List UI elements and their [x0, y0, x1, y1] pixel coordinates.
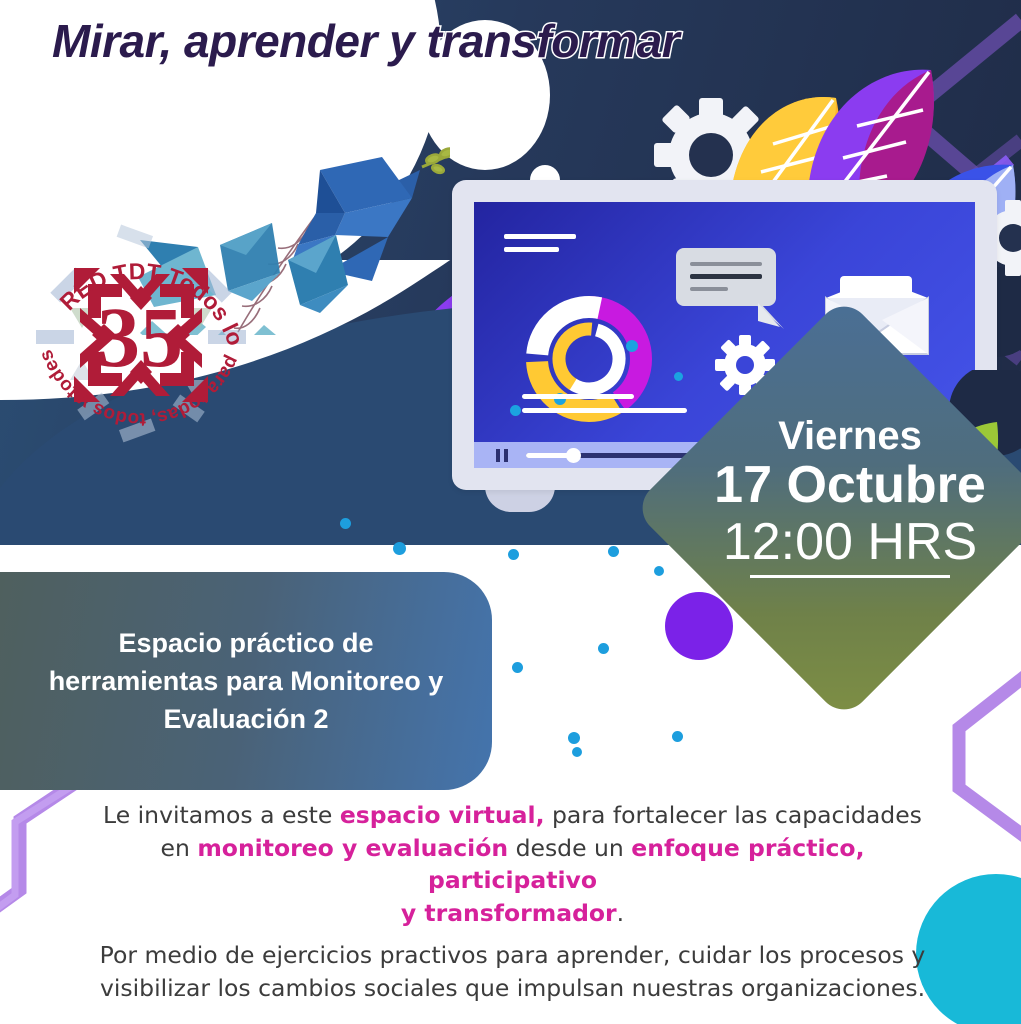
scatter-dot: [340, 518, 351, 529]
headline-text: Espacio práctico de herramientas para Mo…: [31, 624, 462, 739]
body-text: para fortalecer las capacidades: [545, 801, 922, 829]
red-tdt-logo: 35 RED TDT Todos los derechos para todas…: [18, 212, 263, 457]
donut-chart-icon: [524, 294, 654, 424]
body-text: en: [160, 834, 197, 862]
pause-icon[interactable]: [496, 449, 510, 462]
logo-anniversary-number: 35: [97, 289, 183, 385]
headline-line-3: Evaluación 2: [49, 700, 444, 738]
body-highlight: y transformador: [401, 899, 617, 927]
body-line-4: Por medio de ejercicios practivos para a…: [90, 940, 935, 971]
date-day-month: 17 Octubre: [700, 457, 1000, 514]
scatter-dot: [572, 747, 582, 757]
scatter-dot: [598, 643, 609, 654]
body-text: desde un: [508, 834, 631, 862]
body-highlight: monitoreo y evaluación: [197, 834, 508, 862]
speech-bubble-icon: [676, 248, 776, 306]
screen-dot: [510, 405, 521, 416]
purple-accent-circle: [665, 592, 733, 660]
body-line-5: visibilizar los cambios sociales que imp…: [90, 973, 935, 1004]
scatter-dot: [508, 549, 519, 560]
scatter-dot: [654, 566, 664, 576]
scatter-dot: [512, 662, 523, 673]
date-weekday: Viernes: [700, 415, 1000, 457]
body-line-1: Le invitamos a este espacio virtual, par…: [90, 800, 935, 831]
progress-bar-long: [522, 408, 687, 413]
poster-canvas: Mirar, aprender y transformar: [0, 0, 1021, 1024]
body-line-2: en monitoreo y evaluación desde un enfoq…: [90, 833, 935, 896]
body-text: Le invitamos a este: [103, 801, 340, 829]
hamburger-menu-icon[interactable]: [504, 234, 576, 260]
body-highlight: espacio virtual,: [340, 801, 545, 829]
body-line-3: y transformador.: [90, 898, 935, 929]
poster-title: Mirar, aprender y transformar: [52, 14, 679, 68]
scatter-dot: [568, 732, 580, 744]
paragraph-gap: [90, 932, 935, 940]
body-text: .: [617, 899, 624, 927]
headline-line-1: Espacio práctico de: [49, 624, 444, 662]
date-time: 12:00 HRS: [700, 514, 1000, 571]
scatter-dot: [393, 542, 406, 555]
body-copy: Le invitamos a este espacio virtual, par…: [90, 800, 935, 1007]
headline-block: Espacio práctico de herramientas para Mo…: [0, 572, 492, 790]
screen-dot: [674, 372, 683, 381]
progress-slider-thumb[interactable]: [566, 448, 581, 463]
progress-bar-short: [522, 394, 634, 399]
date-info: Viernes 17 Octubre 12:00 HRS: [700, 415, 1000, 578]
date-underline: [750, 575, 950, 578]
scatter-dot: [672, 731, 683, 742]
headline-line-2: herramientas para Monitoreo y: [49, 662, 444, 700]
scatter-dot: [608, 546, 619, 557]
